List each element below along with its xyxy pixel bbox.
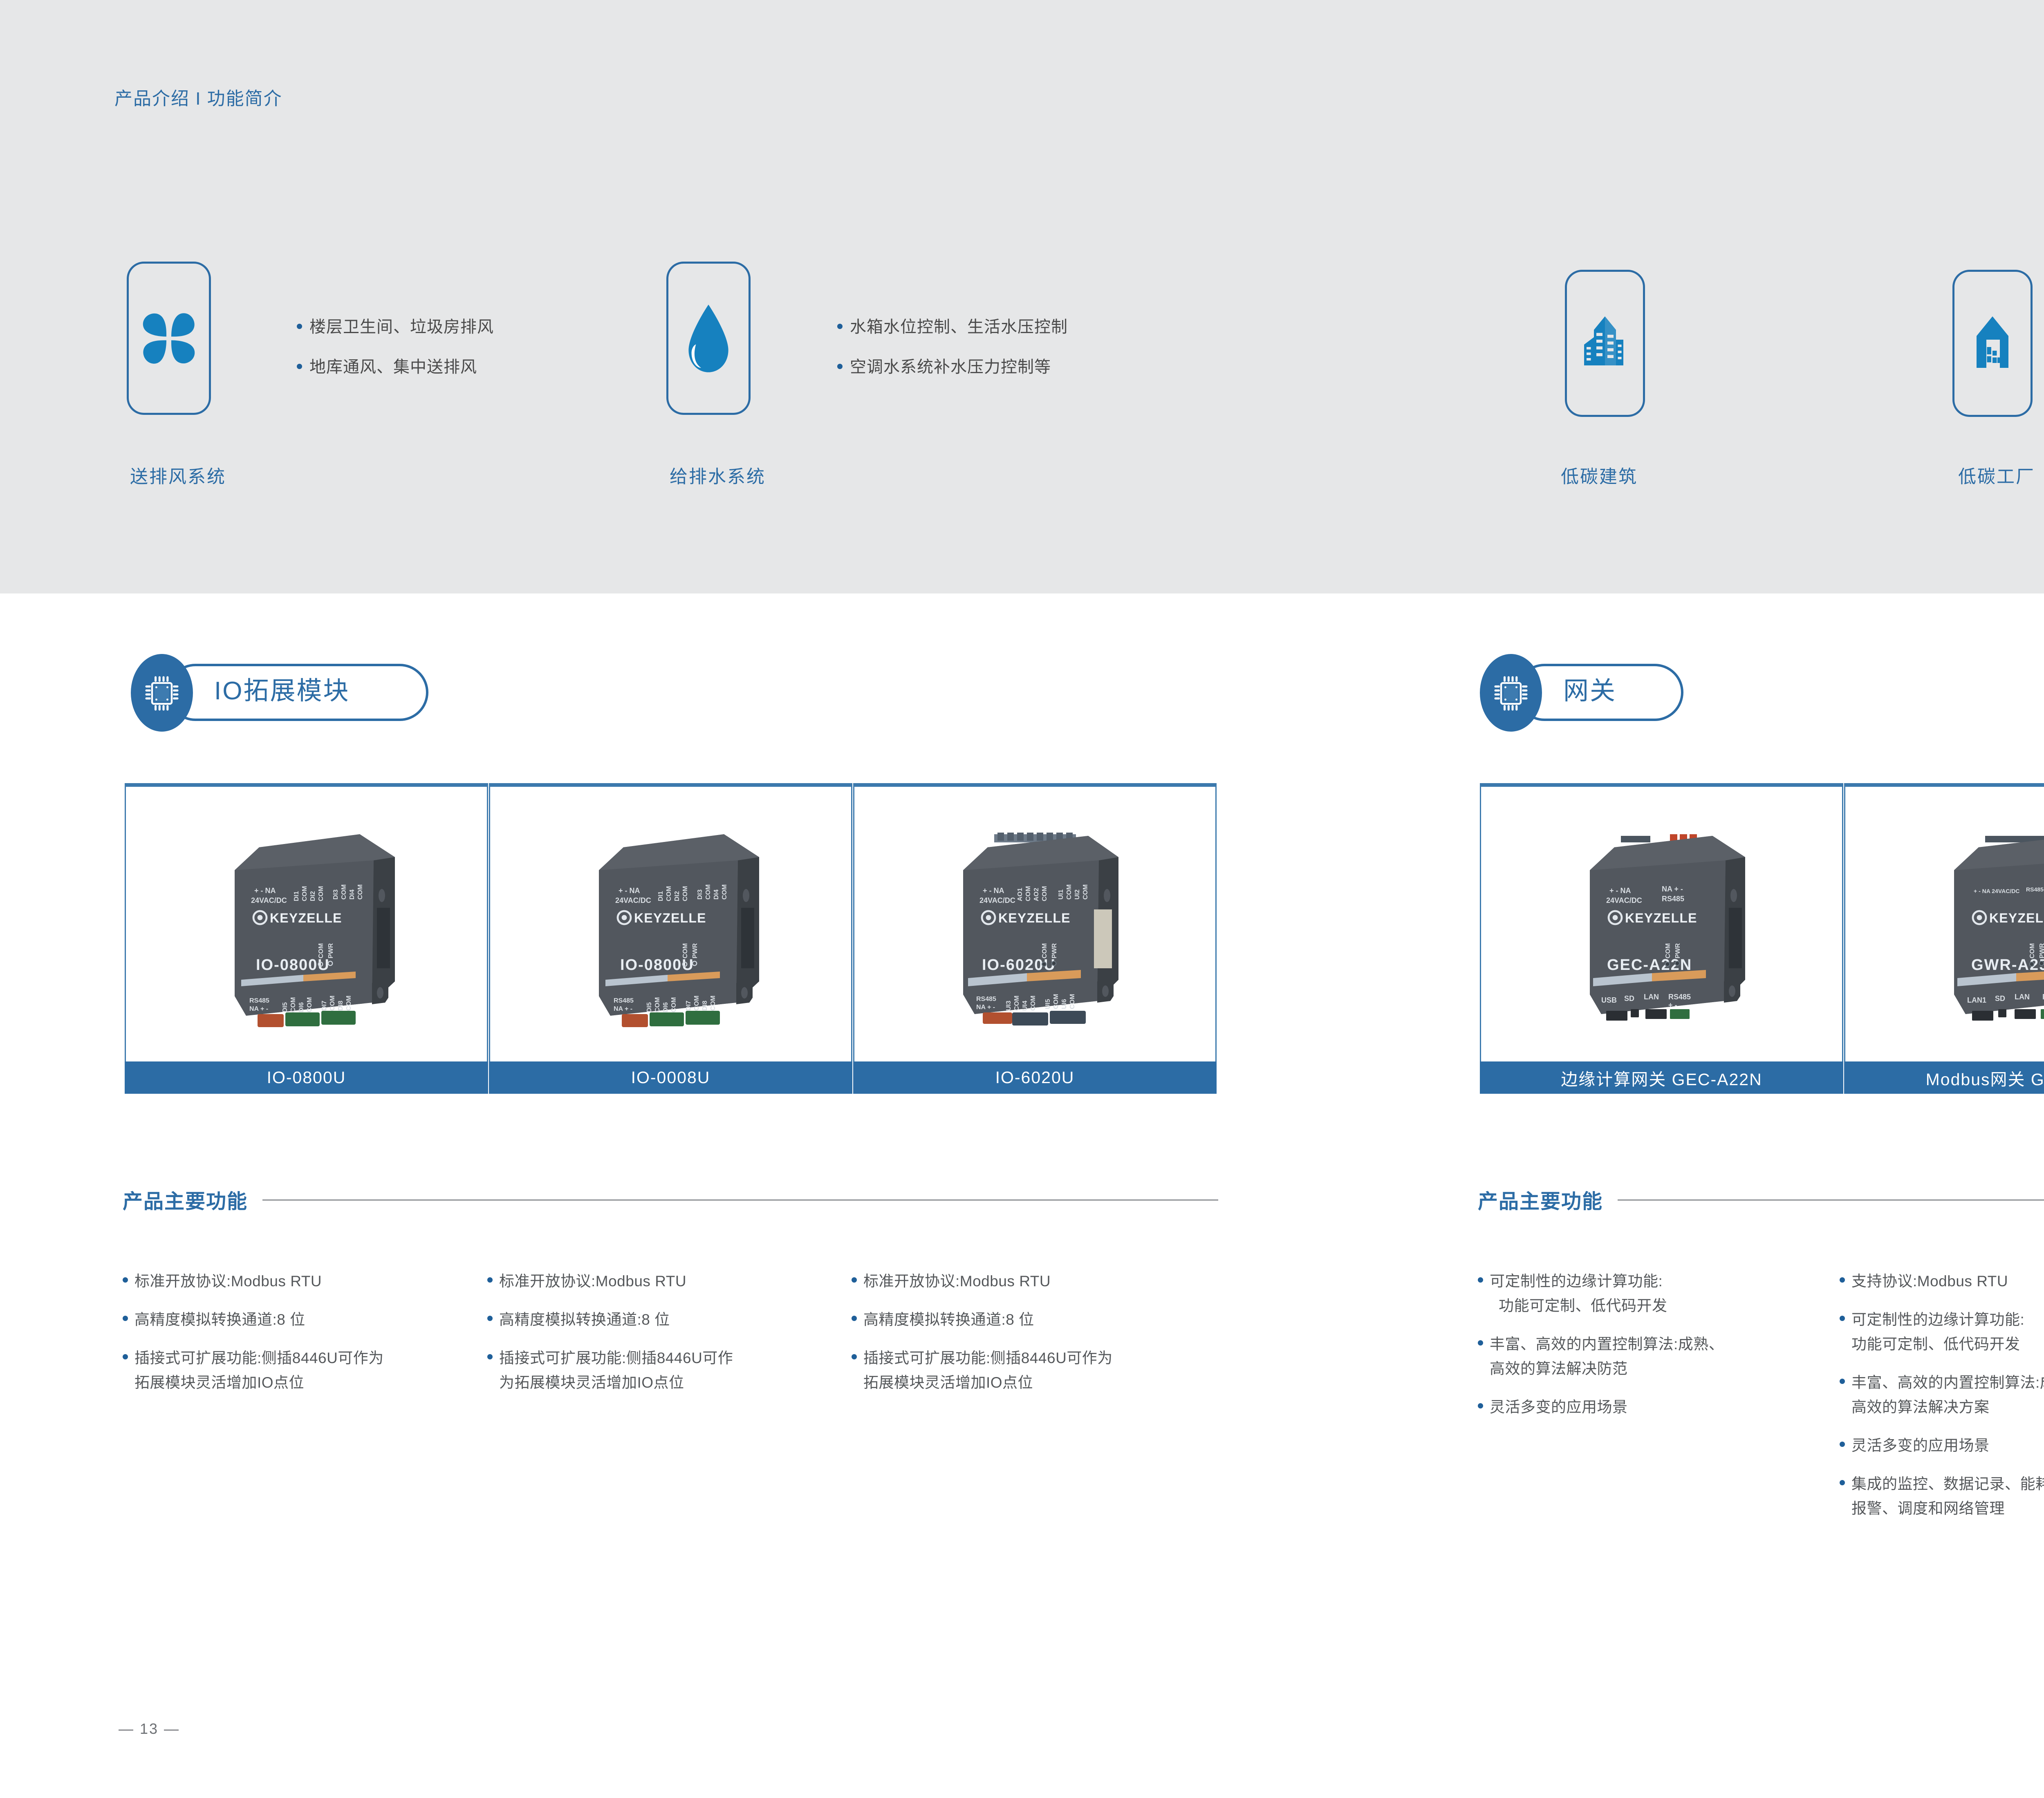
tile-caption-low-carbon-factory: 低碳工厂 xyxy=(1958,462,2035,488)
product-card[interactable]: + - NA 24VAC/DC NA + - RS485 KEYZELLE GE… xyxy=(1480,783,1843,1094)
bullet-item: 楼层卫生间、垃圾房排风 xyxy=(297,315,494,339)
chip-icon xyxy=(131,654,193,732)
svg-text:24VAC/DC: 24VAC/DC xyxy=(1606,896,1642,905)
section-title-io: IO拓展模块 xyxy=(214,678,350,706)
divider-line xyxy=(1618,1199,2044,1201)
bullet-dot-icon xyxy=(837,364,843,369)
feature-item: 支持协议:Modbus RTU xyxy=(1840,1269,2044,1294)
product-card-label: IO-6020U xyxy=(853,1061,1217,1094)
svg-text:PWR: PWR xyxy=(1051,943,1058,958)
product-card-label: Modbus网关 GWR-A25N xyxy=(1844,1061,2044,1094)
svg-text:COM: COM xyxy=(721,884,728,900)
svg-text:SD: SD xyxy=(1624,994,1634,1003)
svg-text:NA + -: NA + - xyxy=(249,1005,268,1012)
svg-text:DI6: DI6 xyxy=(662,1002,669,1012)
feature-text: 高精度模拟转换通道:8 位 xyxy=(134,1308,305,1332)
product-image: + - NA 24VAC/DC DI1 COM DI2 COM DI3 COM … xyxy=(126,787,487,1061)
feature-item: 丰富、高效的内置控制算法:成熟、 高效的算法解决防范 xyxy=(1478,1332,1838,1381)
section-header-gateway: 网关 xyxy=(1480,654,1709,732)
product-image: + - NA 24VAC/DC NA + - RS485 KEYZELLE GE… xyxy=(1481,787,1842,1061)
bullet-list-water: 水箱水位控制、生活水压控制 空调水系统补水压力控制等 xyxy=(837,315,1068,395)
svg-text:COM: COM xyxy=(682,943,689,958)
bullet-item: 水箱水位控制、生活水压控制 xyxy=(837,315,1068,339)
bullet-text: 楼层卫生间、垃圾房排风 xyxy=(309,315,494,339)
bullet-dot-icon xyxy=(1840,1277,1845,1283)
header-label-left: 产品介绍 I 功能简介 xyxy=(114,84,282,110)
feature-text: 丰富、高效的内置控制算法:成熟、 高效的算法解决方案 xyxy=(1851,1370,2044,1420)
page-number-left: — 13 — xyxy=(119,1720,180,1738)
svg-text:RS485: RS485 xyxy=(1668,993,1691,1001)
feature-item: 标准开放协议:Modbus RTU xyxy=(123,1269,478,1294)
svg-text:COM: COM xyxy=(1665,943,1672,958)
io-module-device-illustration: + - NA 24VAC/DC DI1 COM DI2 COM DI3 COM … xyxy=(548,810,793,1039)
section-header-io-modules: IO拓展模块 xyxy=(131,654,433,732)
svg-text:KEYZELLE: KEYZELLE xyxy=(270,911,342,925)
svg-text:COM: COM xyxy=(1041,886,1048,901)
feature-item: 丰富、高效的内置控制算法:成熟、 高效的算法解决方案 xyxy=(1840,1370,2044,1420)
product-card-label: IO-0008U xyxy=(489,1061,852,1094)
svg-text:DI5: DI5 xyxy=(646,1002,653,1012)
feature-column: 标准开放协议:Modbus RTU 高精度模拟转换通道:8 位 插接式可扩展功能… xyxy=(487,1269,843,1409)
svg-text:PWR: PWR xyxy=(2039,943,2044,958)
feature-column: 可定制性的边缘计算功能: 功能可定制、低代码开发 丰富、高效的内置控制算法:成熟… xyxy=(1478,1269,1838,1433)
svg-text:UI6: UI6 xyxy=(1061,999,1068,1009)
svg-text:LAN: LAN xyxy=(1644,993,1659,1001)
svg-text:DI5: DI5 xyxy=(282,1002,289,1012)
svg-text:COM: COM xyxy=(1030,996,1037,1011)
product-card[interactable]: + - NA 24VAC/DC DI1 COM DI2 COM DI3 COM … xyxy=(125,783,488,1094)
svg-text:COM: COM xyxy=(306,997,313,1012)
svg-text:DI2: DI2 xyxy=(309,891,316,901)
feature-item: 标准开放协议:Modbus RTU xyxy=(487,1269,843,1294)
bullet-dot-icon xyxy=(487,1277,493,1283)
svg-text:COM: COM xyxy=(318,886,325,901)
svg-text:DI7: DI7 xyxy=(685,1001,692,1011)
svg-text:COM: COM xyxy=(705,884,712,900)
svg-text:+ - NA 24VAC/DC: + - NA 24VAC/DC xyxy=(1974,888,2019,894)
bullet-dot-icon xyxy=(1840,1316,1845,1321)
feature-column: 标准开放协议:Modbus RTU 高精度模拟转换通道:8 位 插接式可扩展功能… xyxy=(123,1269,478,1409)
svg-text:COM: COM xyxy=(1013,996,1020,1011)
svg-text:DI1: DI1 xyxy=(293,891,300,901)
bullet-dot-icon xyxy=(487,1316,493,1321)
bullet-dot-icon xyxy=(123,1354,128,1359)
feature-text: 灵活多变的应用场景 xyxy=(1490,1395,1628,1420)
tile-low-carbon-factory xyxy=(1952,270,2033,417)
svg-text:LAN1: LAN1 xyxy=(1967,996,1986,1004)
bullet-text: 地库通风、集中送排风 xyxy=(309,355,477,379)
bullet-text: 空调水系统补水压力控制等 xyxy=(850,355,1051,379)
svg-text:AO2: AO2 xyxy=(1033,888,1040,901)
top-gray-band xyxy=(0,0,2044,593)
svg-text:COM: COM xyxy=(290,997,297,1012)
bullet-dot-icon xyxy=(1840,1379,1845,1384)
gateway-device-illustration: + - NA 24VAC/DC NA + - RS485 KEYZELLE GE… xyxy=(1539,810,1784,1039)
svg-text:UI1: UI1 xyxy=(1058,889,1065,900)
svg-text:DI8: DI8 xyxy=(337,1001,344,1011)
svg-text:+ - NA: + - NA xyxy=(254,887,276,895)
svg-text:DI3: DI3 xyxy=(697,889,704,900)
svg-text:DI2: DI2 xyxy=(674,891,681,901)
svg-text:RS485: RS485 xyxy=(249,997,269,1004)
svg-text:RS485: RS485 xyxy=(2042,993,2044,1001)
feature-text: 丰富、高效的内置控制算法:成熟、 高效的算法解决防范 xyxy=(1490,1332,1724,1381)
svg-text:DI3: DI3 xyxy=(332,889,339,900)
factory-icon xyxy=(1968,313,2017,374)
svg-text:UI5: UI5 xyxy=(1044,999,1051,1009)
bullet-dot-icon xyxy=(1478,1340,1483,1346)
svg-text:SD: SD xyxy=(1995,994,2005,1003)
product-card-label: IO-0800U xyxy=(125,1061,488,1094)
office-building-icon xyxy=(1580,313,1629,374)
svg-text:COM: COM xyxy=(682,886,689,901)
svg-text:KEYZELLE: KEYZELLE xyxy=(1989,911,2044,925)
svg-text:NA + -: NA + - xyxy=(976,1004,995,1011)
feature-item: 插接式可扩展功能:侧插8446U可作为 拓展模块灵活增加IO点位 xyxy=(852,1346,1219,1395)
water-drop-icon xyxy=(683,302,734,375)
product-card[interactable]: + - NA 24VAC/DC AO1 COM AO2 COM UI1 COM … xyxy=(853,783,1217,1094)
feature-item: 灵活多变的应用场景 xyxy=(1840,1433,2044,1458)
feature-text: 插接式可扩展功能:侧插8446U可作 为拓展模块灵活增加IO点位 xyxy=(499,1346,733,1395)
bullet-dot-icon xyxy=(1478,1403,1483,1408)
features-heading-gateway: 产品主要功能 xyxy=(1478,1185,2044,1214)
bullet-dot-icon xyxy=(1478,1277,1483,1283)
brochure-page: 产品介绍 I 功能简介 产品介绍 I 功能简介 送排风系统 楼层卫生间、垃圾房排… xyxy=(0,0,2044,1798)
svg-text:COM: COM xyxy=(357,884,364,900)
bullet-dot-icon xyxy=(297,364,302,369)
svg-text:AO1: AO1 xyxy=(1017,888,1024,901)
svg-text:COM: COM xyxy=(654,997,661,1012)
chip-icon xyxy=(1480,654,1542,732)
svg-text:PWR: PWR xyxy=(327,943,334,958)
tile-water xyxy=(666,262,751,415)
feature-text: 标准开放协议:Modbus RTU xyxy=(499,1269,686,1294)
svg-text:UI2: UI2 xyxy=(1074,889,1081,900)
svg-text:COM: COM xyxy=(670,997,677,1012)
feature-column: 标准开放协议:Modbus RTU 高精度模拟转换通道:8 位 插接式可扩展功能… xyxy=(852,1269,1219,1409)
bullet-text: 水箱水位控制、生活水压控制 xyxy=(850,315,1068,339)
product-card-label: 边缘计算网关 GEC-A22N xyxy=(1480,1061,1843,1094)
features-title: 产品主要功能 xyxy=(123,1185,248,1214)
svg-text:+ - NA: + - NA xyxy=(983,887,1004,895)
svg-text:RS485: RS485 xyxy=(1662,895,1684,903)
svg-text:COM: COM xyxy=(329,996,336,1011)
product-card[interactable]: + - NA 24VAC/DC RS485-1 / RS485-2 KEYZEL… xyxy=(1844,783,2044,1094)
bullet-dot-icon xyxy=(1840,1442,1845,1447)
io-module-device-illustration: + - NA 24VAC/DC DI1 COM DI2 COM DI3 COM … xyxy=(184,810,429,1039)
bullet-dot-icon xyxy=(487,1354,493,1359)
bullet-item: 地库通风、集中送排风 xyxy=(297,355,494,379)
divider-line xyxy=(262,1199,1218,1201)
feature-item: 高精度模拟转换通道:8 位 xyxy=(487,1308,843,1332)
product-card[interactable]: + - NA 24VAC/DC DI1 COM DI2 COM DI3 COM … xyxy=(489,783,852,1094)
svg-text:NA + -: NA + - xyxy=(1662,885,1683,893)
section-title-gateway: 网关 xyxy=(1563,678,1616,706)
svg-text:+ - NA: + - NA xyxy=(619,887,640,895)
feature-item: 标准开放协议:Modbus RTU xyxy=(852,1269,1219,1294)
svg-text:COM: COM xyxy=(710,996,717,1011)
bullet-dot-icon xyxy=(1840,1480,1845,1485)
features-heading-io: 产品主要功能 xyxy=(123,1185,1218,1214)
tile-low-carbon-building xyxy=(1565,270,1645,417)
product-image: + - NA 24VAC/DC AO1 COM AO2 COM UI1 COM … xyxy=(854,787,1215,1061)
svg-text:COM: COM xyxy=(1069,994,1076,1009)
bullet-dot-icon xyxy=(297,324,302,329)
gateway-device-illustration: + - NA 24VAC/DC RS485-1 / RS485-2 KEYZEL… xyxy=(1903,810,2044,1039)
svg-text:COM: COM xyxy=(301,886,308,901)
svg-text:24VAC/DC: 24VAC/DC xyxy=(615,896,651,905)
svg-text:COM: COM xyxy=(1082,884,1089,900)
svg-text:KEYZELLE: KEYZELLE xyxy=(998,911,1071,925)
section-pill-io: IO拓展模块 xyxy=(167,664,428,721)
svg-text:COM: COM xyxy=(1025,886,1032,901)
fan-icon xyxy=(138,306,199,371)
svg-text:DI4: DI4 xyxy=(713,889,720,900)
feature-item: 可定制性的边缘计算功能: 功能可定制、低代码开发 xyxy=(1840,1308,2044,1357)
svg-text:COM: COM xyxy=(2029,943,2036,958)
svg-text:COM: COM xyxy=(1041,943,1048,958)
feature-text: 灵活多变的应用场景 xyxy=(1851,1433,1990,1458)
svg-text:COM: COM xyxy=(318,943,325,958)
svg-text:DI4: DI4 xyxy=(349,889,356,900)
feature-text: 标准开放协议:Modbus RTU xyxy=(134,1269,322,1294)
feature-text: 支持协议:Modbus RTU xyxy=(1851,1269,2008,1294)
bullet-dot-icon xyxy=(852,1354,857,1359)
svg-text:COM: COM xyxy=(666,886,672,901)
bullet-item: 空调水系统补水压力控制等 xyxy=(837,355,1068,379)
svg-text:COM: COM xyxy=(341,884,347,900)
feature-item: 插接式可扩展功能:侧插8446U可作 为拓展模块灵活增加IO点位 xyxy=(487,1346,843,1395)
feature-item: 可定制性的边缘计算功能: 功能可定制、低代码开发 xyxy=(1478,1269,1838,1318)
bullet-dot-icon xyxy=(837,324,843,329)
feature-text: 集成的监控、数据记录、能耗计量、 报警、调度和网络管理 xyxy=(1851,1472,2044,1521)
features-title: 产品主要功能 xyxy=(1478,1185,1603,1214)
svg-text:PWR: PWR xyxy=(692,943,699,958)
feature-text: 高精度模拟转换通道:8 位 xyxy=(499,1308,670,1332)
product-image: + - NA 24VAC/DC DI1 COM DI2 COM DI3 COM … xyxy=(490,787,851,1061)
svg-text:DI1: DI1 xyxy=(657,891,664,901)
bullet-dot-icon xyxy=(123,1316,128,1321)
svg-text:COM: COM xyxy=(1066,884,1073,900)
feature-text: 可定制性的边缘计算功能: 功能可定制、低代码开发 xyxy=(1490,1269,1667,1318)
product-image: + - NA 24VAC/DC RS485-1 / RS485-2 KEYZEL… xyxy=(1845,787,2044,1061)
feature-item: 集成的监控、数据记录、能耗计量、 报警、调度和网络管理 xyxy=(1840,1472,2044,1521)
feature-column: 支持协议:Modbus RTU 可定制性的边缘计算功能: 功能可定制、低代码开发… xyxy=(1840,1269,2044,1535)
feature-item: 高精度模拟转换通道:8 位 xyxy=(123,1308,478,1332)
svg-text:DI8: DI8 xyxy=(702,1001,708,1011)
svg-text:+ -: + - xyxy=(1668,1001,1677,1009)
tile-caption-water: 给排水系统 xyxy=(670,462,766,488)
svg-text:GEC-A22N: GEC-A22N xyxy=(1607,956,1692,974)
svg-text:UI4: UI4 xyxy=(1022,1001,1029,1011)
svg-text:USB: USB xyxy=(1601,996,1617,1004)
svg-text:+ - NA: + - NA xyxy=(1609,887,1631,895)
tile-fan xyxy=(127,262,211,415)
feature-item: 高精度模拟转换通道:8 位 xyxy=(852,1308,1219,1332)
feature-item: 灵活多变的应用场景 xyxy=(1478,1395,1838,1420)
feature-text: 高精度模拟转换通道:8 位 xyxy=(863,1308,1034,1332)
svg-text:DI6: DI6 xyxy=(298,1002,305,1012)
svg-text:COM: COM xyxy=(1053,994,1060,1009)
feature-text: 可定制性的边缘计算功能: 功能可定制、低代码开发 xyxy=(1851,1308,2024,1357)
feature-text: 插接式可扩展功能:侧插8446U可作为 拓展模块灵活增加IO点位 xyxy=(863,1346,1113,1395)
svg-text:UI3: UI3 xyxy=(1005,1001,1012,1011)
svg-text:24VAC/DC: 24VAC/DC xyxy=(251,896,287,905)
svg-text:PWR: PWR xyxy=(1674,943,1681,958)
svg-text:COM: COM xyxy=(345,996,352,1011)
svg-text:LAN: LAN xyxy=(2015,993,2030,1001)
tile-caption-fan: 送排风系统 xyxy=(130,462,226,488)
svg-text:KEYZELLE: KEYZELLE xyxy=(1625,911,1697,925)
feature-text: 标准开放协议:Modbus RTU xyxy=(863,1269,1051,1294)
io-module-device-illustration: + - NA 24VAC/DC AO1 COM AO2 COM UI1 COM … xyxy=(912,810,1158,1039)
feature-item: 插接式可扩展功能:侧插8446U可作为 拓展模块灵活增加IO点位 xyxy=(123,1346,478,1395)
bullet-list-fan: 楼层卫生间、垃圾房排风 地库通风、集中送排风 xyxy=(297,315,494,395)
svg-text:DI7: DI7 xyxy=(321,1001,328,1011)
svg-text:RS485-1 / RS485-2: RS485-1 / RS485-2 xyxy=(2026,886,2044,893)
svg-text:RS485: RS485 xyxy=(976,996,996,1003)
bullet-dot-icon xyxy=(852,1316,857,1321)
svg-text:24VAC/DC: 24VAC/DC xyxy=(979,896,1015,905)
svg-text:KEYZELLE: KEYZELLE xyxy=(634,911,706,925)
tile-caption-low-carbon-building: 低碳建筑 xyxy=(1561,462,1638,488)
svg-text:RS485: RS485 xyxy=(614,997,634,1004)
bullet-dot-icon xyxy=(123,1277,128,1283)
feature-text: 插接式可扩展功能:侧插8446U可作为 拓展模块灵活增加IO点位 xyxy=(134,1346,384,1395)
svg-text:NA + -: NA + - xyxy=(614,1005,632,1012)
bullet-dot-icon xyxy=(852,1277,857,1283)
svg-text:COM: COM xyxy=(693,996,700,1011)
